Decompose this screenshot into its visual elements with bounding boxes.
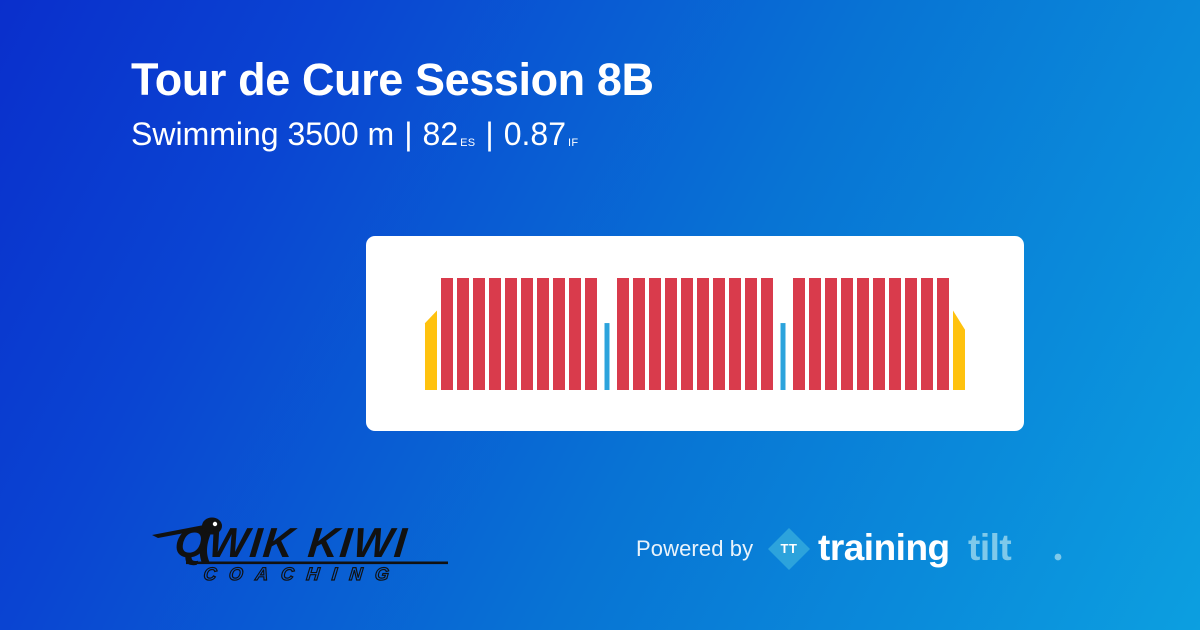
chart-bar-work [745, 278, 757, 390]
training-tilt-wordmark: training tilt [818, 527, 1070, 571]
chart-bar-work [857, 278, 869, 390]
chart-bar-work [585, 278, 597, 390]
qwik-kiwi-coaching-logo: QWIK KIWI COACHING [148, 513, 468, 585]
workout-chart-card [366, 236, 1024, 431]
chart-bar-work [873, 278, 885, 390]
chart-bar-work [697, 278, 709, 390]
chart-bar-work [521, 278, 533, 390]
chart-bar-work [617, 278, 629, 390]
svg-text:QWIK KIWI: QWIK KIWI [172, 519, 410, 567]
summary-separator-2: | [475, 115, 503, 153]
workout-bar-chart [366, 236, 1024, 431]
tt-diamond-graphic: TT [767, 527, 811, 571]
chart-bar-work [825, 278, 837, 390]
brand-tilt-text: tilt [968, 527, 1011, 568]
chart-bar-work [713, 278, 725, 390]
qwik-kiwi-logo-graphic: QWIK KIWI COACHING [148, 513, 468, 585]
chart-bar-warmup [425, 311, 437, 390]
svg-text:COACHING: COACHING [203, 564, 403, 584]
intensity-factor-unit: IF [568, 137, 578, 150]
training-tilt-badge-icon: TT [767, 527, 811, 571]
chart-bar-work [569, 278, 581, 390]
chart-bar-work [537, 278, 549, 390]
effort-score-unit: ES [460, 137, 475, 150]
chart-bar-work [473, 278, 485, 390]
chart-bar-rest [781, 323, 786, 390]
training-tilt-wordmark-svg: training tilt [818, 527, 1070, 571]
chart-bar-work [665, 278, 677, 390]
chart-bar-work [841, 278, 853, 390]
chart-bar-work [505, 278, 517, 390]
chart-bar-work [921, 278, 933, 390]
chart-bar-work [633, 278, 645, 390]
chart-bar-work [937, 278, 949, 390]
powered-by-block: Powered by TT training tilt [636, 526, 1070, 572]
workout-bar-chart-svg [366, 236, 1024, 431]
chart-bar-rest [605, 323, 610, 390]
coaching-wordmark: COACHING [203, 564, 403, 584]
session-summary: Swimming 3500 m | 82 ES | 0.87 IF [131, 115, 1091, 153]
tt-badge-text: TT [781, 541, 798, 556]
chart-bar-work [793, 278, 805, 390]
brand-training-text: training [818, 527, 950, 568]
header: Tour de Cure Session 8B Swimming 3500 m … [131, 54, 1091, 153]
page-title: Tour de Cure Session 8B [131, 54, 1091, 106]
chart-bar-work [553, 278, 565, 390]
intensity-factor-value: 0.87 [504, 115, 566, 153]
chart-bar-work [761, 278, 773, 390]
chart-bar-work [457, 278, 469, 390]
chart-bar-work [905, 278, 917, 390]
powered-by-label: Powered by [636, 536, 753, 562]
chart-bar-work [729, 278, 741, 390]
chart-bar-cooldown [953, 311, 965, 390]
qwik-kiwi-wordmark: QWIK KIWI [172, 519, 410, 567]
distance-label: 3500 m [287, 115, 394, 153]
chart-bar-work [681, 278, 693, 390]
chart-bar-work [889, 278, 901, 390]
chart-bar-work [649, 278, 661, 390]
chart-bar-work [809, 278, 821, 390]
effort-score-value: 82 [423, 115, 459, 153]
sport-label: Swimming [131, 115, 279, 153]
brand-dot [1055, 554, 1062, 561]
chart-bar-work [441, 278, 453, 390]
summary-separator-1: | [394, 115, 422, 153]
chart-bar-work [489, 278, 501, 390]
